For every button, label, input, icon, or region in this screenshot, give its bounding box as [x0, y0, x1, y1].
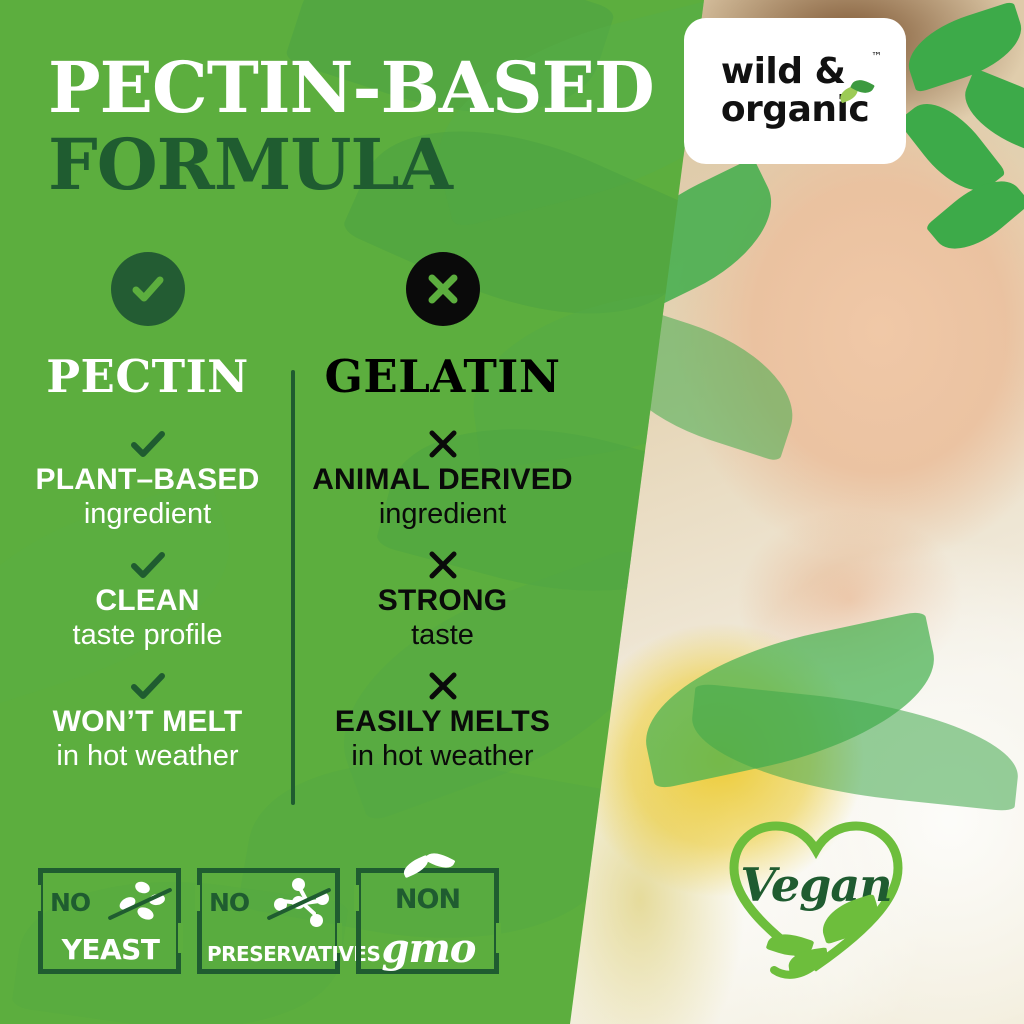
logo-leaf-icon — [839, 80, 873, 106]
badge-non-gmo: NON gmo — [356, 868, 499, 974]
item-primary: CLEAN — [95, 584, 199, 618]
column-header-pectin: PECTIN — [0, 350, 295, 403]
comparison-rows: PLANT–BASED ingredient ANIMAL DERIVED in… — [0, 425, 590, 772]
headline-line-2: FORMULA — [48, 129, 654, 202]
molecule-crossed-icon — [268, 878, 330, 930]
pectin-vs-gelatin-infographic: PECTIN-BASED FORMULA wild & organic ™ — [0, 0, 1024, 1024]
x-icon — [427, 425, 459, 463]
badge-label: gmo — [362, 925, 495, 972]
logo-wordmark: wild & organic ™ — [721, 54, 869, 128]
check-icon — [130, 667, 166, 705]
cell-pectin-2: CLEAN taste profile — [0, 546, 295, 651]
badge-label: PRESERVATIVES — [207, 942, 332, 966]
column-divider — [291, 370, 295, 805]
table-row: PLANT–BASED ingredient ANIMAL DERIVED in… — [0, 425, 590, 530]
yeast-cell — [134, 880, 152, 895]
x-circle-icon — [406, 252, 480, 326]
column-title-pectin: PECTIN — [46, 350, 249, 403]
table-row: WON’T MELT in hot weather EASILY MELTS i… — [0, 667, 590, 772]
trademark-symbol: ™ — [871, 50, 882, 63]
molecule-node — [292, 878, 305, 891]
leaves-icon — [402, 852, 456, 876]
item-primary: EASILY MELTS — [335, 705, 550, 739]
badge-prefix: NO — [209, 888, 249, 917]
x-icon — [427, 667, 459, 705]
verdict-cell-pectin — [0, 252, 295, 326]
item-primary: PLANT–BASED — [36, 463, 260, 497]
column-header-row: PECTIN GELATIN — [0, 350, 590, 403]
badge-no-preservatives: NO PRESERVATIVES — [197, 868, 340, 974]
certification-badges: NO YEAST NO — [38, 868, 499, 974]
item-secondary: in hot weather — [351, 740, 533, 772]
headline: PECTIN-BASED FORMULA — [48, 52, 654, 202]
check-icon — [130, 546, 166, 584]
x-icon — [427, 546, 459, 584]
yeast-cells-crossed-icon — [109, 878, 171, 930]
molecule-node — [310, 914, 323, 927]
comparison-table: PECTIN GELATIN PLANT–BASED ingredient — [0, 252, 590, 788]
item-primary: STRONG — [378, 584, 508, 618]
item-primary: ANIMAL DERIVED — [312, 463, 573, 497]
check-circle-icon — [111, 252, 185, 326]
item-primary: WON’T MELT — [53, 705, 243, 739]
brand-logo: wild & organic ™ — [684, 18, 906, 164]
item-secondary: taste profile — [73, 619, 223, 651]
vegan-badge: Vegan — [716, 806, 916, 986]
yeast-cell — [135, 905, 155, 922]
verdict-icon-row — [0, 252, 590, 326]
leaf-icon-right — [425, 849, 456, 873]
cell-pectin-1: PLANT–BASED ingredient — [0, 425, 295, 530]
badge-no-yeast: NO YEAST — [38, 868, 181, 974]
vegan-label: Vegan — [716, 858, 916, 912]
cell-gelatin-1: ANIMAL DERIVED ingredient — [295, 425, 590, 530]
headline-line-1: PECTIN-BASED — [48, 52, 654, 125]
item-secondary: taste — [411, 619, 474, 651]
badge-prefix: NON — [356, 884, 499, 915]
check-icon — [130, 425, 166, 463]
cell-gelatin-2: STRONG taste — [295, 546, 590, 651]
verdict-cell-gelatin — [295, 252, 590, 326]
item-secondary: in hot weather — [56, 740, 238, 772]
badge-prefix: NO — [50, 888, 90, 917]
item-secondary: ingredient — [84, 498, 211, 530]
column-header-gelatin: GELATIN — [295, 350, 590, 403]
column-title-gelatin: GELATIN — [325, 350, 561, 403]
cell-gelatin-3: EASILY MELTS in hot weather — [295, 667, 590, 772]
table-row: CLEAN taste profile STRONG taste — [0, 546, 590, 651]
badge-label: YEAST — [48, 933, 173, 966]
item-secondary: ingredient — [379, 498, 506, 530]
cell-pectin-3: WON’T MELT in hot weather — [0, 667, 295, 772]
